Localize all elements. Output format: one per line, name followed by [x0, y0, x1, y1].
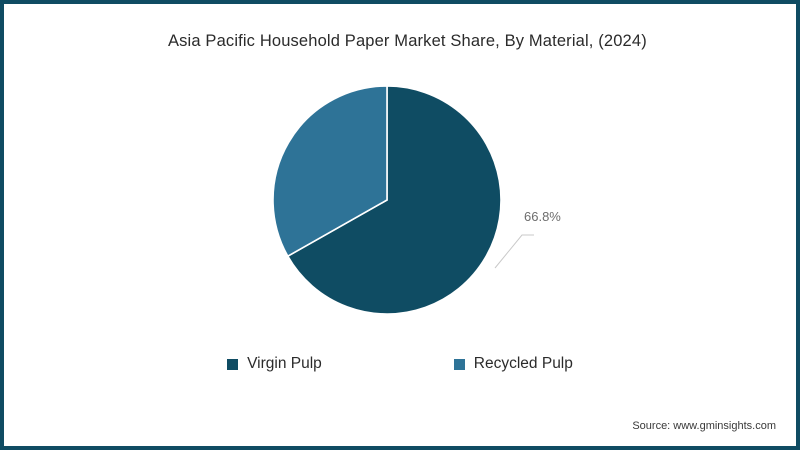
legend-swatch-icon: [454, 359, 465, 370]
pie-data-label-virgin-pulp: 66.8%: [524, 209, 561, 224]
pie-chart: [272, 85, 502, 315]
pie-slice-group: [273, 86, 501, 314]
source-attribution: Source: www.gminsights.com: [632, 420, 776, 432]
legend-item-label: Virgin Pulp: [247, 355, 322, 373]
chart-canvas: Asia Pacific Household Paper Market Shar…: [0, 0, 800, 450]
chart-legend: Virgin Pulp Recycled Pulp: [0, 355, 800, 373]
legend-item-virgin-pulp[interactable]: Virgin Pulp: [227, 355, 322, 373]
leader-line: [495, 235, 534, 268]
legend-swatch-icon: [227, 359, 238, 370]
pie-svg: [272, 85, 502, 315]
legend-item-recycled-pulp[interactable]: Recycled Pulp: [454, 355, 573, 373]
legend-item-label: Recycled Pulp: [474, 355, 573, 373]
page-title: Asia Pacific Household Paper Market Shar…: [168, 32, 647, 51]
